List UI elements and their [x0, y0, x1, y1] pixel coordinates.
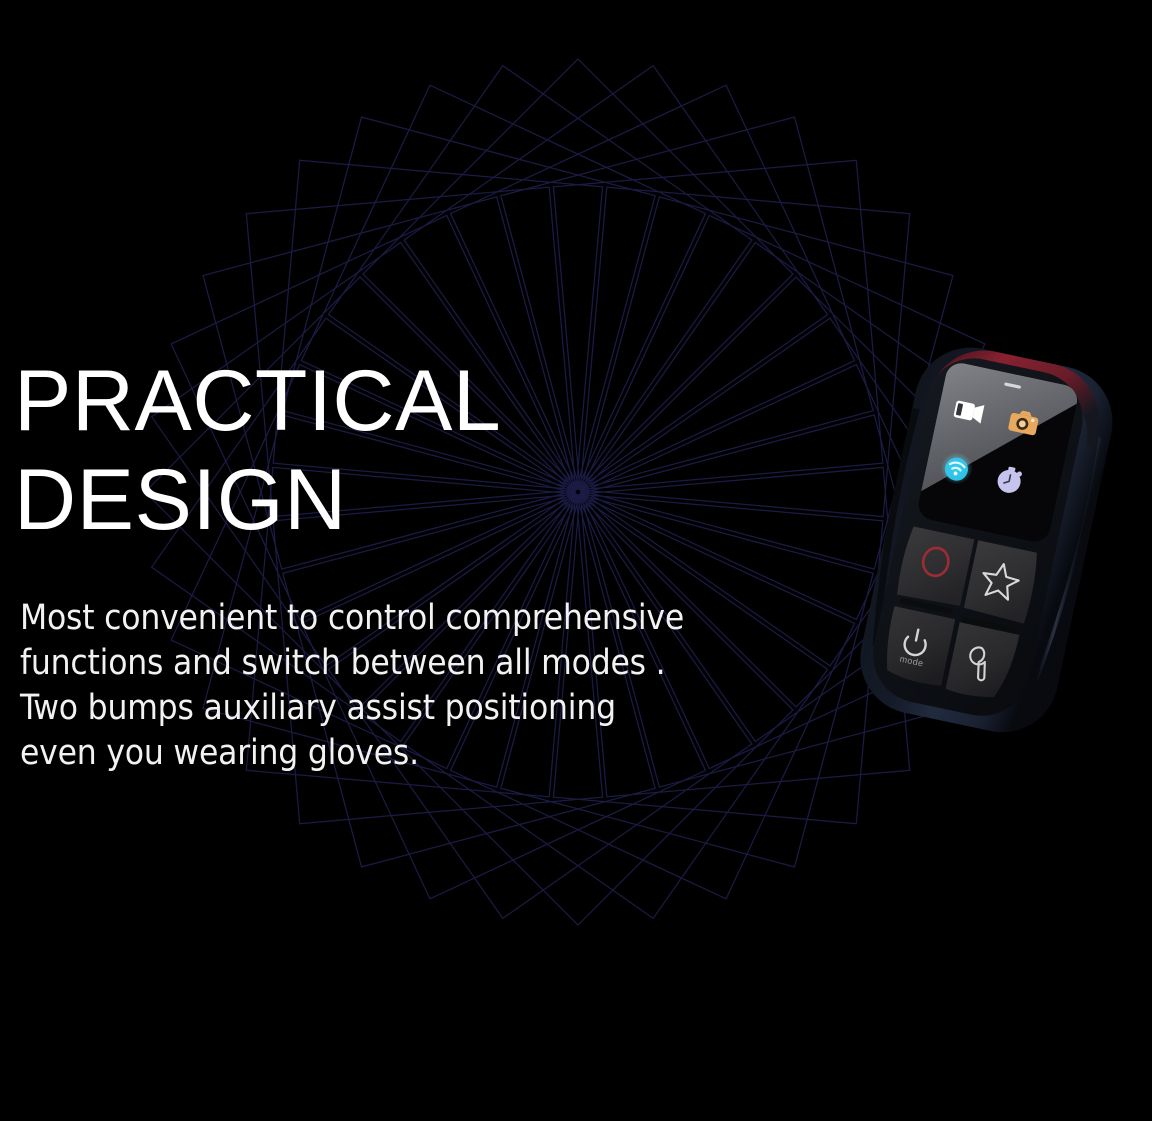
- paragraph-line-3: Two bumps auxiliary assist positioning: [20, 686, 850, 731]
- description-paragraph: Most convenient to control comprehensive…: [20, 596, 850, 776]
- paragraph-line-1: Most convenient to control comprehensive: [20, 596, 850, 641]
- headline-line-1: PRACTICAL: [14, 352, 714, 451]
- slide-canvas: PRACTICAL DESIGN Most convenient to cont…: [0, 0, 1152, 1121]
- paragraph-line-2: functions and switch between all modes .: [20, 641, 850, 686]
- headline-line-2: DESIGN: [14, 451, 714, 550]
- paragraph-line-4: even you wearing gloves.: [20, 731, 850, 776]
- remote-control-device: mode: [838, 338, 1148, 768]
- page-title: PRACTICAL DESIGN: [14, 352, 714, 550]
